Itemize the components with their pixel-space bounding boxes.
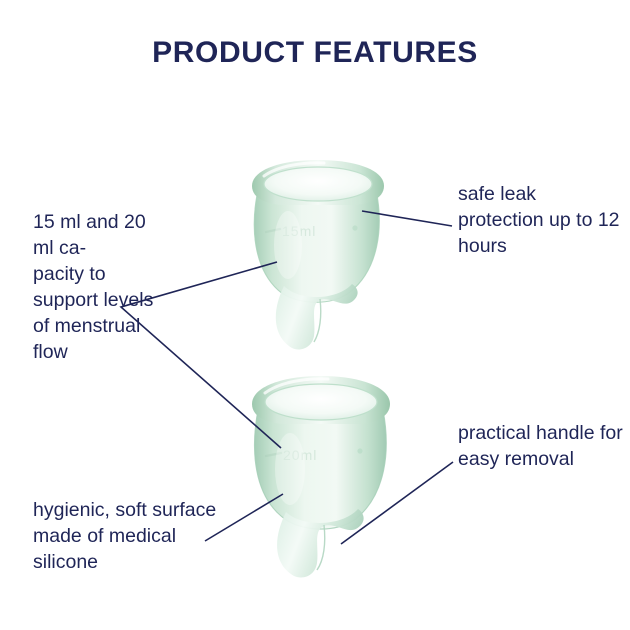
callout-leak-protection-text: safe leak protection up to 12 hours (458, 181, 623, 259)
product-image-cup-20ml: 20ml (228, 366, 423, 578)
cup-body-highlight (275, 433, 305, 505)
product-features-infographic: PRODUCT FEATURES (0, 0, 630, 630)
cup-20ml-graphic: 20ml (228, 366, 423, 578)
cup-surface-speck (352, 225, 357, 230)
cup-body-highlight (274, 211, 302, 279)
cup-body (255, 410, 387, 529)
callout-silicone-text: hygienic, soft surface made of medical s… (33, 497, 233, 575)
page-title: PRODUCT FEATURES (0, 36, 630, 70)
product-image-cup-15ml: 15ml (228, 150, 413, 350)
callout-handle-text: practical handle for easy removal (458, 420, 623, 472)
callout-capacity-text: 15 ml and 20 ml ca- pacity to support le… (33, 209, 168, 365)
cup-15ml-graphic: 15ml (228, 150, 413, 350)
cup-surface-speck (357, 448, 362, 453)
